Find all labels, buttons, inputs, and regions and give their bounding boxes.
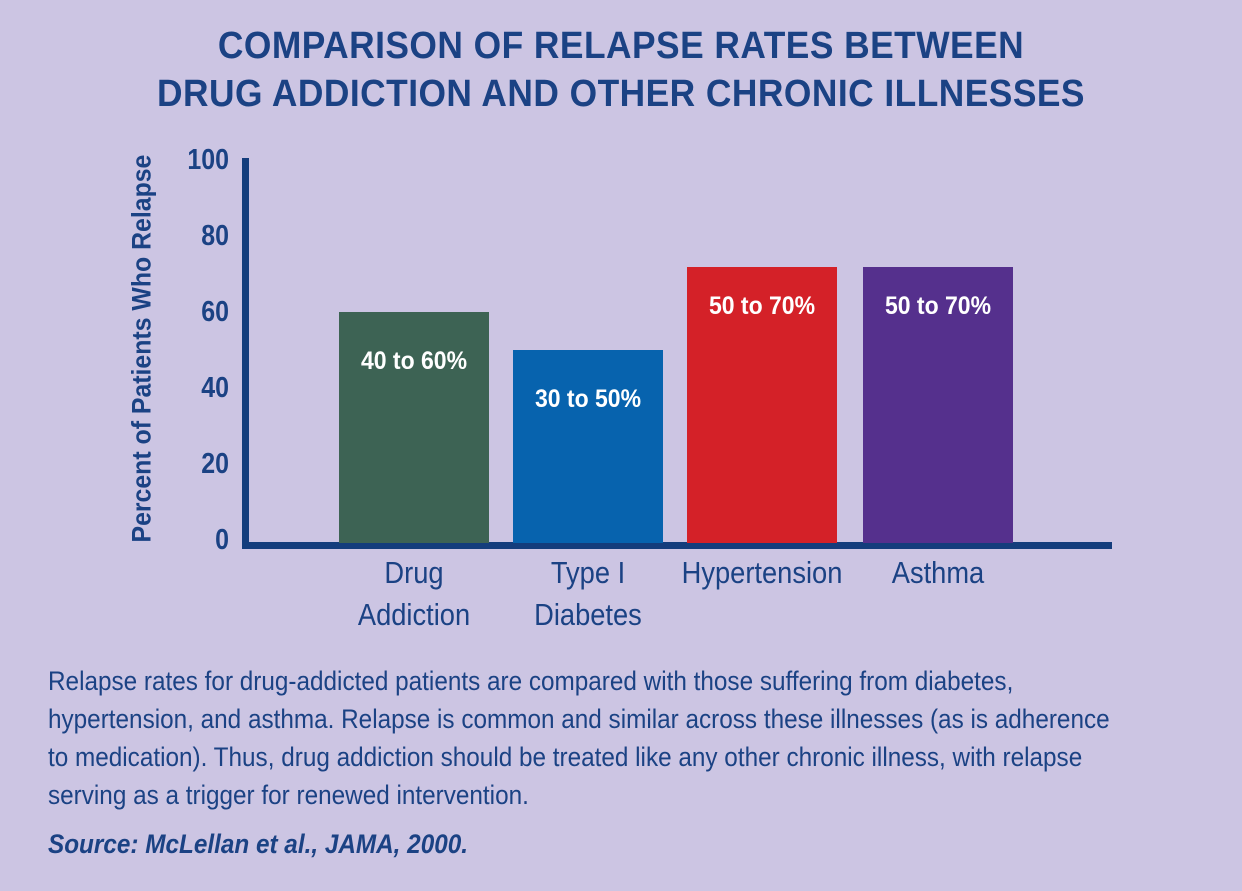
caption-line-3: to medication). Thus, drug addiction sho… [48, 738, 1074, 776]
x-label-drug-addiction-line-1: Drug [339, 552, 489, 594]
x-label-type-i-diabetes-line-1: Type I [513, 552, 663, 594]
bar-rect-type-i-diabetes [513, 350, 663, 543]
bars-layer: 40 to 60% 30 to 50% 50 to 70% 50 to 70% [0, 0, 1242, 543]
x-label-hypertension-line-1: Hypertension [678, 552, 845, 594]
bar-label-asthma: 50 to 70% [869, 294, 1007, 319]
bar-chart: Percent of Patients Who Relapse 100 80 6… [0, 0, 1242, 660]
bar-label-drug-addiction: 40 to 60% [345, 349, 483, 374]
x-label-asthma-line-1: Asthma [863, 552, 1013, 594]
caption-line-1: Relapse rates for drug-addicted patients… [48, 662, 1074, 700]
x-label-asthma: Asthma [863, 552, 1013, 594]
caption-line-4: serving as a trigger for renewed interve… [48, 776, 1074, 814]
bar-type-i-diabetes[interactable]: 30 to 50% [513, 350, 663, 543]
bar-asthma[interactable]: 50 to 70% [863, 267, 1013, 543]
caption-line-2: hypertension, and asthma. Relapse is com… [48, 700, 1074, 738]
caption-text: Relapse rates for drug-addicted patients… [48, 662, 1074, 814]
bar-label-hypertension: 50 to 70% [693, 294, 831, 319]
bar-drug-addiction[interactable]: 40 to 60% [339, 312, 489, 543]
x-label-type-i-diabetes: Type I Diabetes [513, 552, 663, 636]
x-label-drug-addiction-line-2: Addiction [339, 594, 489, 636]
bar-hypertension[interactable]: 50 to 70% [687, 267, 837, 543]
source-attribution: Source: McLellan et al., JAMA, 2000. [48, 827, 468, 861]
infographic-page: COMPARISON OF RELAPSE RATES BETWEEN DRUG… [0, 0, 1242, 891]
x-label-drug-addiction: Drug Addiction [339, 552, 489, 636]
x-label-type-i-diabetes-line-2: Diabetes [513, 594, 663, 636]
bar-label-type-i-diabetes: 30 to 50% [519, 387, 657, 412]
x-axis-line [242, 542, 1112, 549]
x-label-hypertension: Hypertension [678, 552, 845, 594]
